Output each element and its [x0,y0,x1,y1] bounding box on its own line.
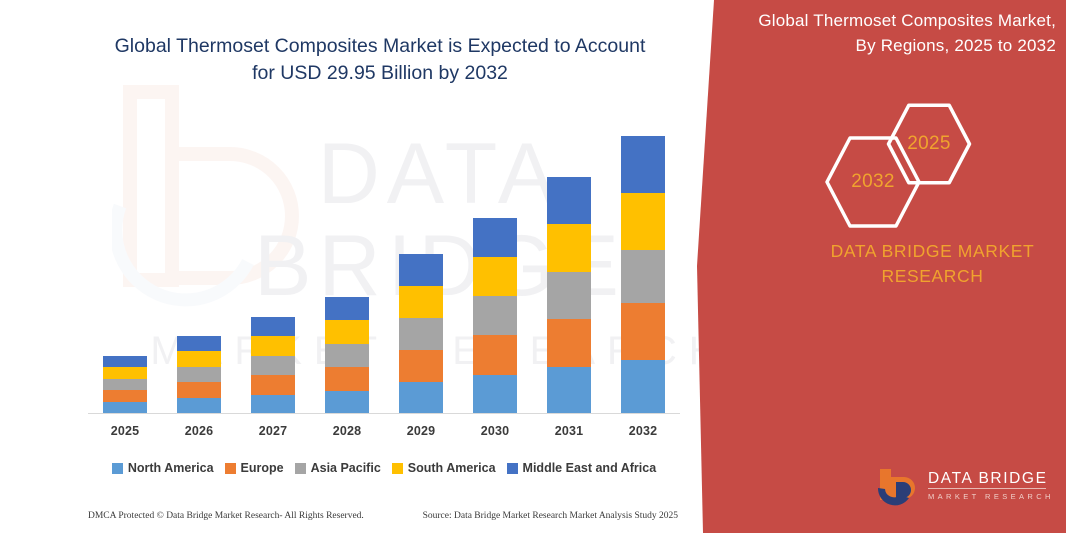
bar-column [325,297,369,413]
bar-segment [251,395,295,413]
bar-segment [177,336,221,351]
bar-segment [621,360,665,413]
bar-segment [325,344,369,367]
data-bridge-logo-text: DATA BRIDGE MARKET RESEARCH [928,470,1054,503]
bar-segment [399,382,443,413]
bar-column [547,177,591,413]
bar-segment [177,367,221,382]
chart-plot-area [88,110,680,413]
x-axis-label: 2025 [88,424,162,438]
footer-source: Source: Data Bridge Market Research Mark… [423,511,678,521]
bar-segment [325,320,369,344]
bar-segment [399,254,443,286]
bar-segment [399,350,443,382]
infographic-canvas: DATA BRIDGE MARKET RESEARCH Global Therm… [0,0,1066,533]
bar-segment [325,391,369,413]
footer-copyright: DMCA Protected © Data Bridge Market Rese… [88,511,364,521]
bar-segment [473,218,517,257]
logo-divider [928,488,1046,489]
bar-segment [547,272,591,319]
bar-segment [547,319,591,367]
legend-swatch-icon [392,463,403,474]
bar-column [103,356,147,413]
bar-segment [399,286,443,318]
bar-segment [547,177,591,224]
legend-swatch-icon [112,463,123,474]
bar-segment [251,375,295,395]
bar-segment [251,336,295,356]
bar-segment [103,379,147,390]
bar-column [177,336,221,413]
x-axis-labels: 20252026202720282029203020312032 [88,424,680,442]
bar-segment [325,367,369,391]
bar-segment [621,136,665,193]
bar-segment [547,367,591,413]
footer: DMCA Protected © Data Bridge Market Rese… [88,508,678,524]
stacked-bar-chart [88,110,680,415]
legend-item[interactable]: South America [392,461,496,475]
legend-label: North America [128,461,214,475]
bar-column [251,317,295,413]
chart-title-line-2: By Regions, 2025 to 2032 [726,33,1056,58]
page-title-line-2: for USD 29.95 Billion by 2032 [90,60,670,87]
logo-name: DATA BRIDGE [928,470,1054,487]
hexagon-label-2025: 2025 [885,100,973,188]
legend-label: South America [408,461,496,475]
legend-swatch-icon [295,463,306,474]
x-axis-line [88,413,680,414]
brand-wordmark-line-2: RESEARCH [790,264,1066,289]
bar-segment [103,367,147,379]
data-bridge-logo: DATA BRIDGE MARKET RESEARCH [876,466,1056,510]
bar-segment [251,356,295,375]
x-axis-label: 2029 [384,424,458,438]
legend-item[interactable]: North America [112,461,214,475]
bar-segment [177,351,221,367]
legend-item[interactable]: Asia Pacific [295,461,381,475]
bar-column [399,254,443,413]
bar-segment [103,402,147,413]
bar-segment [621,193,665,250]
brand-wordmark: DATA BRIDGE MARKET RESEARCH [790,239,1066,289]
bar-segment [473,257,517,296]
page-title-line-1: Global Thermoset Composites Market is Ex… [90,33,670,60]
x-axis-label: 2027 [236,424,310,438]
bar-column [621,136,665,413]
data-bridge-logo-mark [876,466,922,510]
chart-title-banner: Global Thermoset Composites Market, By R… [726,8,1056,58]
x-axis-label: 2032 [606,424,680,438]
legend-item[interactable]: Middle East and Africa [507,461,657,475]
bar-segment [251,317,295,336]
chart-title-line-1: Global Thermoset Composites Market, [726,8,1056,33]
bar-segment [621,303,665,360]
bar-segment [547,224,591,272]
legend-label: Middle East and Africa [523,461,657,475]
legend-label: Europe [241,461,284,475]
legend-label: Asia Pacific [311,461,381,475]
x-axis-label: 2030 [458,424,532,438]
legend-swatch-icon [225,463,236,474]
bar-segment [473,296,517,335]
bar-segment [473,375,517,413]
hexagon-badge-2025: 2025 [885,100,973,188]
bar-segment [177,398,221,413]
bar-segment [103,390,147,402]
bar-segment [177,382,221,398]
chart-legend: North AmericaEuropeAsia PacificSouth Ame… [88,458,680,478]
bar-segment [399,318,443,350]
logo-tagline: MARKET RESEARCH [928,491,1054,503]
page-title: Global Thermoset Composites Market is Ex… [90,33,670,87]
bar-segment [621,250,665,303]
bar-segment [473,335,517,375]
legend-item[interactable]: Europe [225,461,284,475]
bar-segment [103,356,147,367]
legend-swatch-icon [507,463,518,474]
x-axis-label: 2026 [162,424,236,438]
x-axis-label: 2031 [532,424,606,438]
bar-segment [325,297,369,320]
brand-wordmark-line-1: DATA BRIDGE MARKET [790,239,1066,264]
x-axis-label: 2028 [310,424,384,438]
bar-column [473,218,517,413]
